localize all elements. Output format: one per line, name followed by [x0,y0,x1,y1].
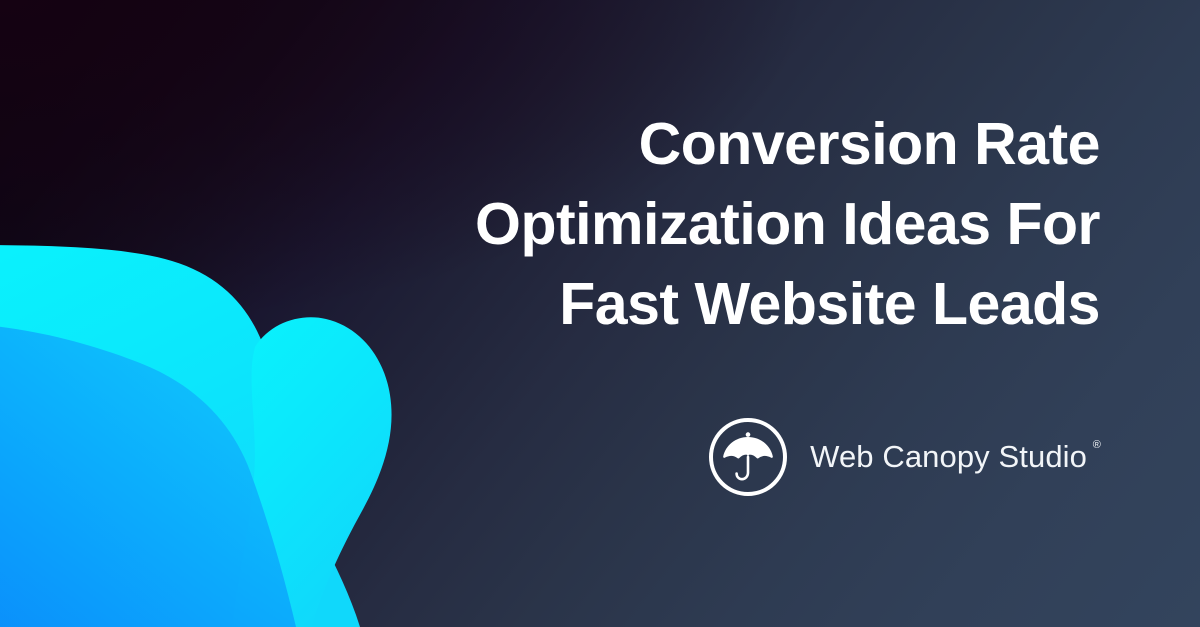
umbrella-in-circle-icon [708,417,788,497]
headline-line-3: Fast Website Leads [440,264,1100,344]
brand-name-text: Web Canopy Studio [810,439,1087,474]
social-share-card: Conversion Rate Optimization Ideas For F… [0,0,1200,627]
headline-line-1: Conversion Rate [440,104,1100,184]
registered-trademark-icon: ® [1093,440,1101,451]
headline-line-2: Optimization Ideas For [440,184,1100,264]
brand-wordmark: Web Canopy Studio® [810,439,1101,475]
brand-logo-lockup[interactable]: Web Canopy Studio® [708,417,1101,497]
page-title: Conversion Rate Optimization Ideas For F… [440,104,1100,344]
